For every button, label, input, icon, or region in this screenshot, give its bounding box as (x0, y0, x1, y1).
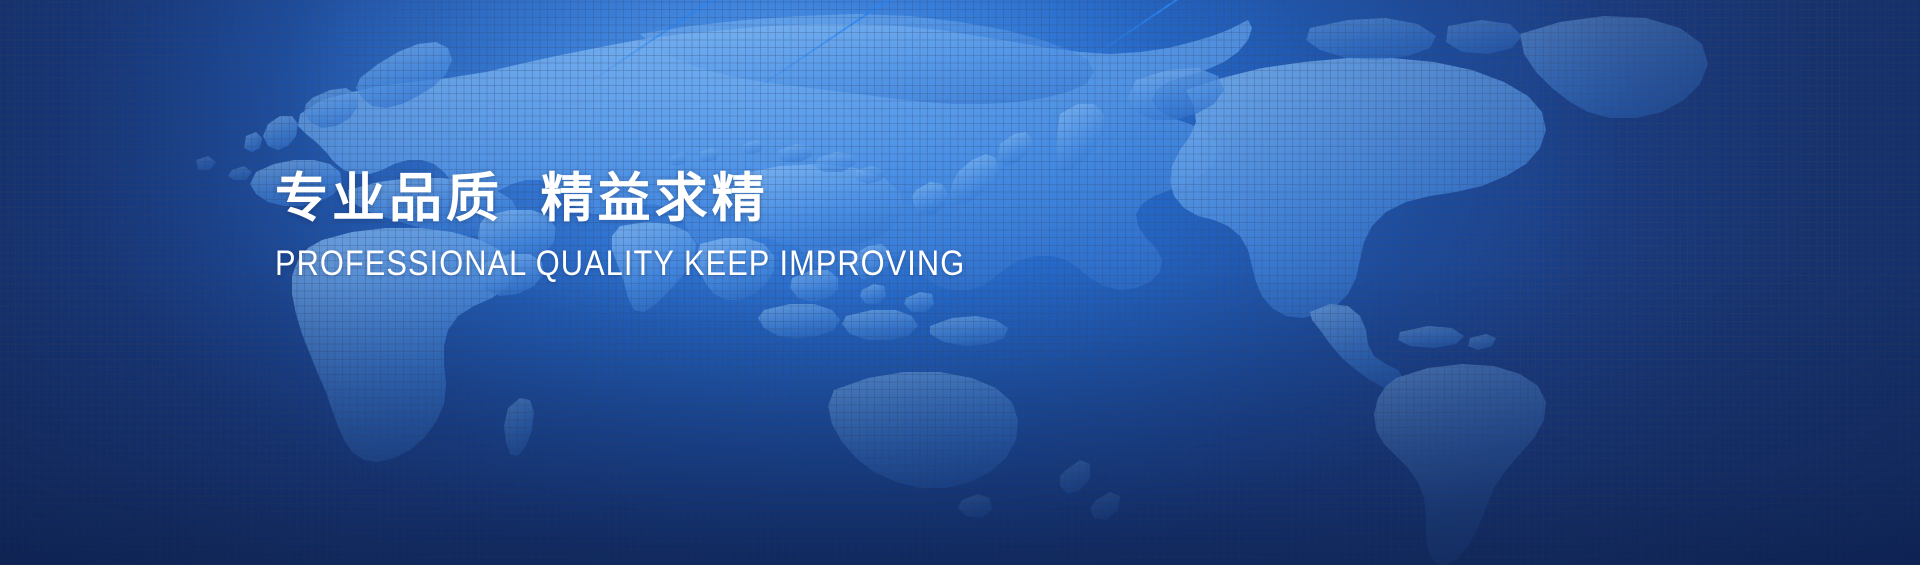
banner-subtitle: PROFESSIONAL QUALITY KEEP IMPROVING (275, 243, 965, 284)
hero-banner: 专业品质 精益求精 PROFESSIONAL QUALITY KEEP IMPR… (0, 0, 1920, 565)
banner-text-block: 专业品质 精益求精 PROFESSIONAL QUALITY KEEP IMPR… (275, 168, 1059, 284)
banner-headline: 专业品质 精益求精 (275, 168, 1059, 231)
